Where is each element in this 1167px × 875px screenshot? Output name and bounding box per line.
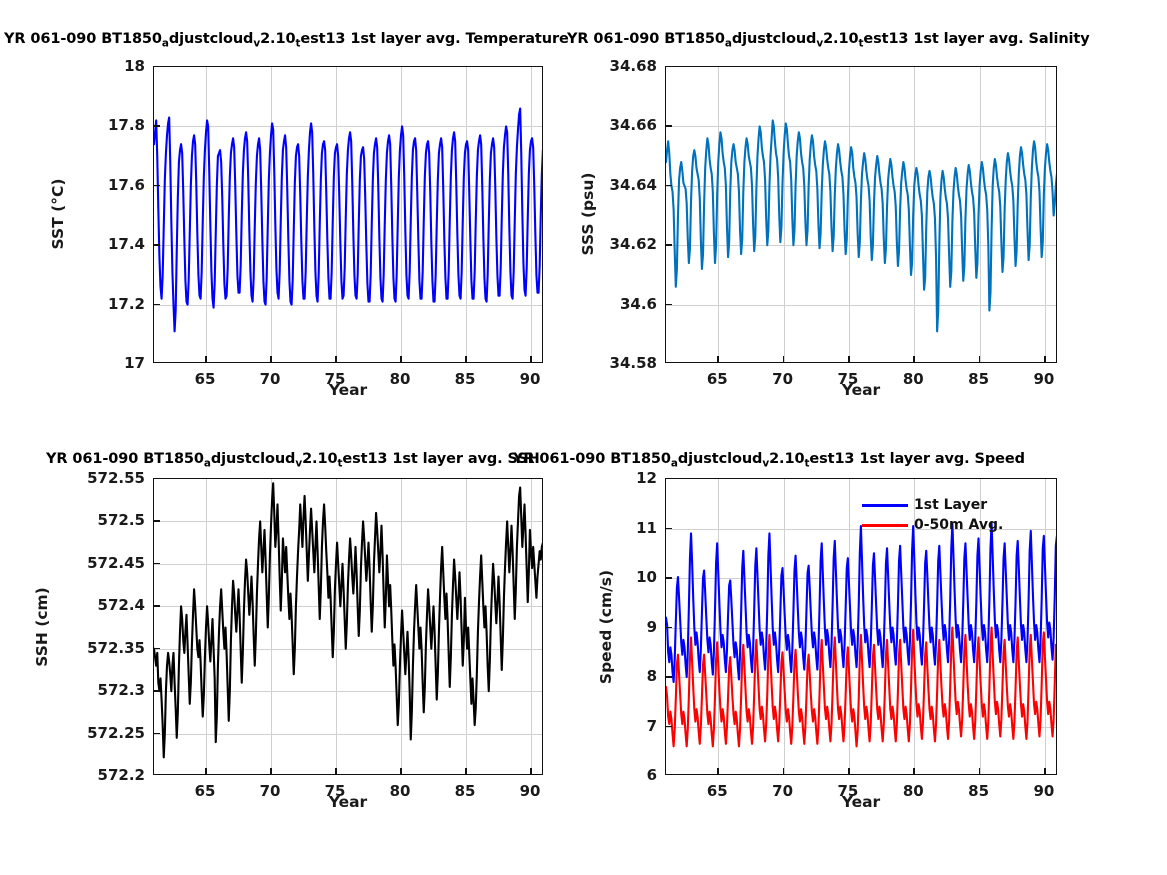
xtick-mark <box>465 768 467 775</box>
ytick-label-speed-3: 9 <box>557 618 657 636</box>
title-prefix-ssh: YR 061-090 BT1850 <box>46 451 204 467</box>
xtick-label-speed-0: 65 <box>707 782 728 800</box>
xtick-mark <box>979 356 981 363</box>
xtick-mark <box>530 768 532 775</box>
title-sub-a-speed: a <box>671 458 678 470</box>
xtick-label-sss-5: 90 <box>1033 370 1054 388</box>
xtick-label-ssh-0: 65 <box>195 782 216 800</box>
ylabel-ssh: SSH (cm) <box>33 567 51 687</box>
ytick-label-speed-6: 12 <box>557 469 657 487</box>
ytick-label-sss-1: 34.6 <box>557 295 657 313</box>
xtick-mark <box>205 356 207 363</box>
xtick-mark <box>465 356 467 363</box>
title-mid3-sss: est13 1st layer avg. <box>863 31 1023 47</box>
xtick-label-sst-1: 70 <box>260 370 281 388</box>
xtick-label-speed-5: 90 <box>1033 782 1054 800</box>
ylabel-sss: SSS (psu) <box>579 154 597 274</box>
ytick-label-speed-2: 8 <box>557 667 657 685</box>
title-mid3-ssh: est13 1st layer avg. <box>342 451 502 467</box>
title-sub-a-sss: a <box>725 38 732 50</box>
ytick-label-ssh-7: 572.55 <box>45 469 145 487</box>
ytick-label-sss-2: 34.62 <box>557 235 657 253</box>
ytick-mark <box>665 304 672 306</box>
xtick-mark <box>270 356 272 363</box>
title-prefix-sst: YR 061-090 BT1850 <box>4 31 162 47</box>
ytick-label-sss-4: 34.66 <box>557 116 657 134</box>
ytick-mark <box>153 125 160 127</box>
xtick-mark <box>717 768 719 775</box>
xtick-mark <box>335 356 337 363</box>
title-mid1-speed: djustcloud <box>678 451 762 467</box>
ytick-mark <box>153 185 160 187</box>
xtick-mark <box>848 768 850 775</box>
xtick-label-speed-3: 80 <box>903 782 924 800</box>
ytick-mark <box>153 690 160 692</box>
xtick-label-sst-4: 85 <box>455 370 476 388</box>
legend-swatch-1st-layer <box>862 504 908 507</box>
title-mid1-sst: djustcloud <box>169 31 253 47</box>
xtick-label-ssh-2: 75 <box>325 782 346 800</box>
ytick-label-ssh-5: 572.45 <box>45 554 145 572</box>
xtick-label-sss-2: 75 <box>837 370 858 388</box>
title-mid1-ssh: djustcloud <box>211 451 295 467</box>
xtick-label-sss-3: 80 <box>903 370 924 388</box>
ytick-mark <box>665 185 672 187</box>
title-mid2-sss: 2.10 <box>823 31 858 47</box>
series-group-sst <box>154 67 543 363</box>
title-mid3-speed: est13 1st layer avg. <box>809 451 969 467</box>
xtick-mark <box>400 768 402 775</box>
plot-area-sss <box>665 66 1057 363</box>
title-prefix-sss: YR 061-090 BT1850 <box>567 31 725 47</box>
xtick-label-ssh-4: 85 <box>455 782 476 800</box>
ytick-label-speed-5: 11 <box>557 519 657 537</box>
xtick-label-speed-1: 70 <box>772 782 793 800</box>
series-group-sss <box>666 67 1057 363</box>
ytick-mark <box>665 627 672 629</box>
ytick-mark <box>665 676 672 678</box>
title-sub-a-sst: a <box>162 38 169 50</box>
xtick-mark <box>783 768 785 775</box>
ytick-label-sst-5: 18 <box>45 57 145 75</box>
plot-area-sst <box>153 66 543 363</box>
ytick-label-ssh-4: 572.4 <box>45 596 145 614</box>
series-line-sst <box>154 109 543 332</box>
series-line-ssh <box>154 483 543 757</box>
legend-entry-1st-layer: 1st Layer <box>862 495 1003 515</box>
ytick-label-sst-2: 17.4 <box>45 235 145 253</box>
ytick-mark <box>665 528 672 530</box>
xtick-mark <box>205 768 207 775</box>
ytick-label-ssh-6: 572.5 <box>45 511 145 529</box>
xtick-label-ssh-3: 80 <box>390 782 411 800</box>
legend-swatch-0-50m-avg <box>862 524 908 527</box>
xtick-label-sss-0: 65 <box>707 370 728 388</box>
series-line-sss <box>666 120 1057 331</box>
legend-entry-0-50m-avg: 0-50m Avg. <box>862 515 1003 535</box>
title-sub-a-ssh: a <box>204 458 211 470</box>
legend-label-0-50m-avg: 0-50m Avg. <box>914 517 1003 533</box>
xtick-label-sst-2: 75 <box>325 370 346 388</box>
ytick-label-speed-0: 6 <box>557 766 657 784</box>
ytick-label-ssh-1: 572.25 <box>45 724 145 742</box>
xtick-label-speed-4: 85 <box>968 782 989 800</box>
ytick-mark <box>665 125 672 127</box>
ytick-mark <box>665 726 672 728</box>
series-group-ssh <box>154 479 543 775</box>
xtick-mark <box>979 768 981 775</box>
xtick-mark <box>335 768 337 775</box>
xtick-mark <box>270 768 272 775</box>
ytick-label-sss-5: 34.68 <box>557 57 657 75</box>
xtick-label-ssh-5: 90 <box>520 782 541 800</box>
ytick-mark <box>153 648 160 650</box>
xtick-label-speed-2: 75 <box>837 782 858 800</box>
ytick-label-speed-4: 10 <box>557 568 657 586</box>
xtick-mark <box>783 356 785 363</box>
ytick-mark <box>153 520 160 522</box>
xtick-mark <box>913 356 915 363</box>
ytick-mark <box>665 577 672 579</box>
xtick-label-sst-0: 65 <box>195 370 216 388</box>
title-suffix-sst: Temperature <box>466 31 569 47</box>
ytick-label-ssh-2: 572.3 <box>45 681 145 699</box>
ytick-mark <box>153 733 160 735</box>
ytick-label-sst-4: 17.8 <box>45 116 145 134</box>
xtick-label-sss-1: 70 <box>772 370 793 388</box>
ytick-mark <box>153 563 160 565</box>
xtick-mark <box>530 356 532 363</box>
ytick-label-sss-0: 34.58 <box>557 354 657 372</box>
title-mid2-speed: 2.10 <box>769 451 804 467</box>
figure-canvas: YR 061-090 BT1850adjustcloudv2.10test13 … <box>0 0 1167 875</box>
panel-title-speed: YR 061-090 BT1850adjustcloudv2.10test13 … <box>513 451 1025 470</box>
xtick-mark <box>913 768 915 775</box>
xtick-label-ssh-1: 70 <box>260 782 281 800</box>
legend-speed: 1st Layer 0-50m Avg. <box>862 495 1003 535</box>
xtick-mark <box>1044 768 1046 775</box>
ytick-label-sst-3: 17.6 <box>45 176 145 194</box>
panel-title-sst: YR 061-090 BT1850adjustcloudv2.10test13 … <box>4 31 569 50</box>
ytick-mark <box>665 244 672 246</box>
ytick-label-sst-1: 17.2 <box>45 295 145 313</box>
title-suffix-sss: Salinity <box>1029 31 1090 47</box>
ytick-label-speed-1: 7 <box>557 717 657 735</box>
title-mid2-ssh: 2.10 <box>302 451 337 467</box>
title-suffix-speed: Speed <box>975 451 1025 467</box>
xtick-mark <box>400 356 402 363</box>
ytick-label-ssh-3: 572.35 <box>45 639 145 657</box>
plot-area-ssh <box>153 478 543 775</box>
title-mid2-sst: 2.10 <box>260 31 295 47</box>
title-prefix-speed: YR 061-090 BT1850 <box>513 451 671 467</box>
legend-label-1st-layer: 1st Layer <box>914 497 987 513</box>
ytick-mark <box>153 605 160 607</box>
xtick-mark <box>848 356 850 363</box>
xtick-label-sst-5: 90 <box>520 370 541 388</box>
xtick-label-sst-3: 80 <box>390 370 411 388</box>
ytick-mark <box>153 304 160 306</box>
ytick-label-sss-3: 34.64 <box>557 176 657 194</box>
panel-title-ssh: YR 061-090 BT1850adjustcloudv2.10test13 … <box>46 451 540 470</box>
panel-title-sss: YR 061-090 BT1850adjustcloudv2.10test13 … <box>567 31 1090 50</box>
ytick-label-sst-0: 17 <box>45 354 145 372</box>
title-mid1-sss: djustcloud <box>732 31 816 47</box>
xtick-mark <box>717 356 719 363</box>
title-mid3-sst: est13 1st layer avg. <box>300 31 460 47</box>
ytick-label-ssh-0: 572.2 <box>45 766 145 784</box>
xtick-mark <box>1044 356 1046 363</box>
ylabel-sst: SST (°C) <box>49 154 67 274</box>
ytick-mark <box>153 244 160 246</box>
xtick-label-sss-4: 85 <box>968 370 989 388</box>
